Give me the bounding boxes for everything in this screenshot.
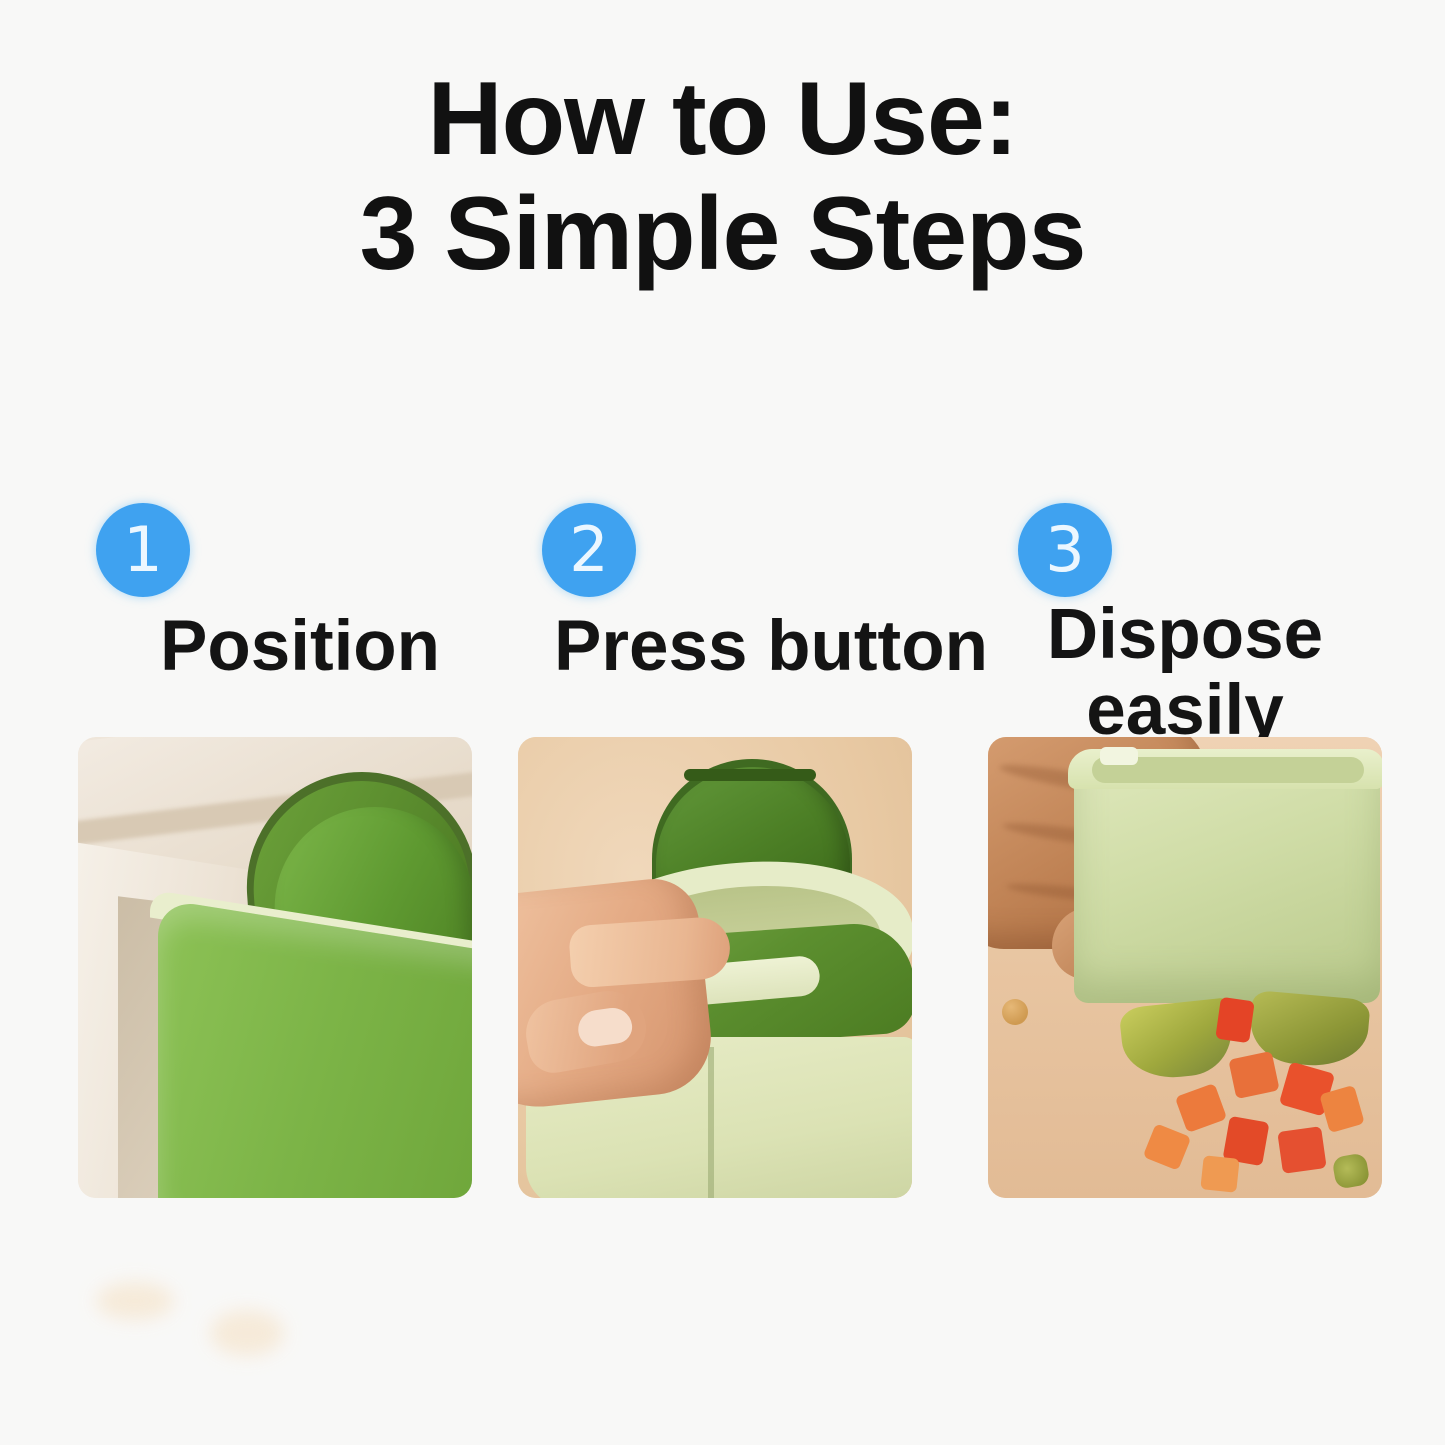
basket-body-shape — [1074, 753, 1380, 1003]
step-number-2: 2 — [569, 519, 608, 581]
basket-tab-shape — [1100, 747, 1138, 765]
wall-screw-shape — [1002, 999, 1028, 1025]
step-photo-2 — [518, 737, 912, 1198]
mount-slot-shape — [684, 769, 816, 781]
step-number-badge-1: 1 — [96, 503, 190, 597]
title-line-2: 3 Simple Steps — [0, 177, 1445, 292]
background-smudge — [96, 1282, 174, 1320]
step-number-badge-2: 2 — [542, 503, 636, 597]
steps-row: 1 Position 2 Press button — [78, 497, 1400, 1207]
step-label-3: Dispose easily — [988, 597, 1382, 749]
step-number-1: 1 — [123, 519, 162, 581]
step-3: 3 Dispose easily — [988, 497, 1382, 1207]
step-photo-1 — [78, 737, 472, 1198]
basket-seam-shape — [708, 1047, 714, 1198]
step-number-badge-3: 3 — [1018, 503, 1112, 597]
background-smudge — [210, 1310, 284, 1356]
food-scrap-tomato — [1215, 997, 1255, 1043]
step-1: 1 Position — [78, 497, 472, 1207]
step-label-2: Press button — [554, 609, 988, 685]
step-label-1: Position — [160, 609, 440, 685]
food-scrap-carrot — [1200, 1155, 1239, 1193]
basket-body-shape — [158, 898, 472, 1198]
index-finger-shape — [568, 915, 732, 988]
page-title: How to Use: 3 Simple Steps — [0, 62, 1445, 292]
step-photo-3 — [988, 737, 1382, 1198]
step-number-3: 3 — [1045, 519, 1084, 581]
step-2: 2 Press button — [518, 497, 912, 1207]
food-scrap-tomato — [1277, 1126, 1326, 1174]
how-to-use-infographic: How to Use: 3 Simple Steps 1 Position — [0, 0, 1445, 1445]
title-line-1: How to Use: — [0, 62, 1445, 177]
